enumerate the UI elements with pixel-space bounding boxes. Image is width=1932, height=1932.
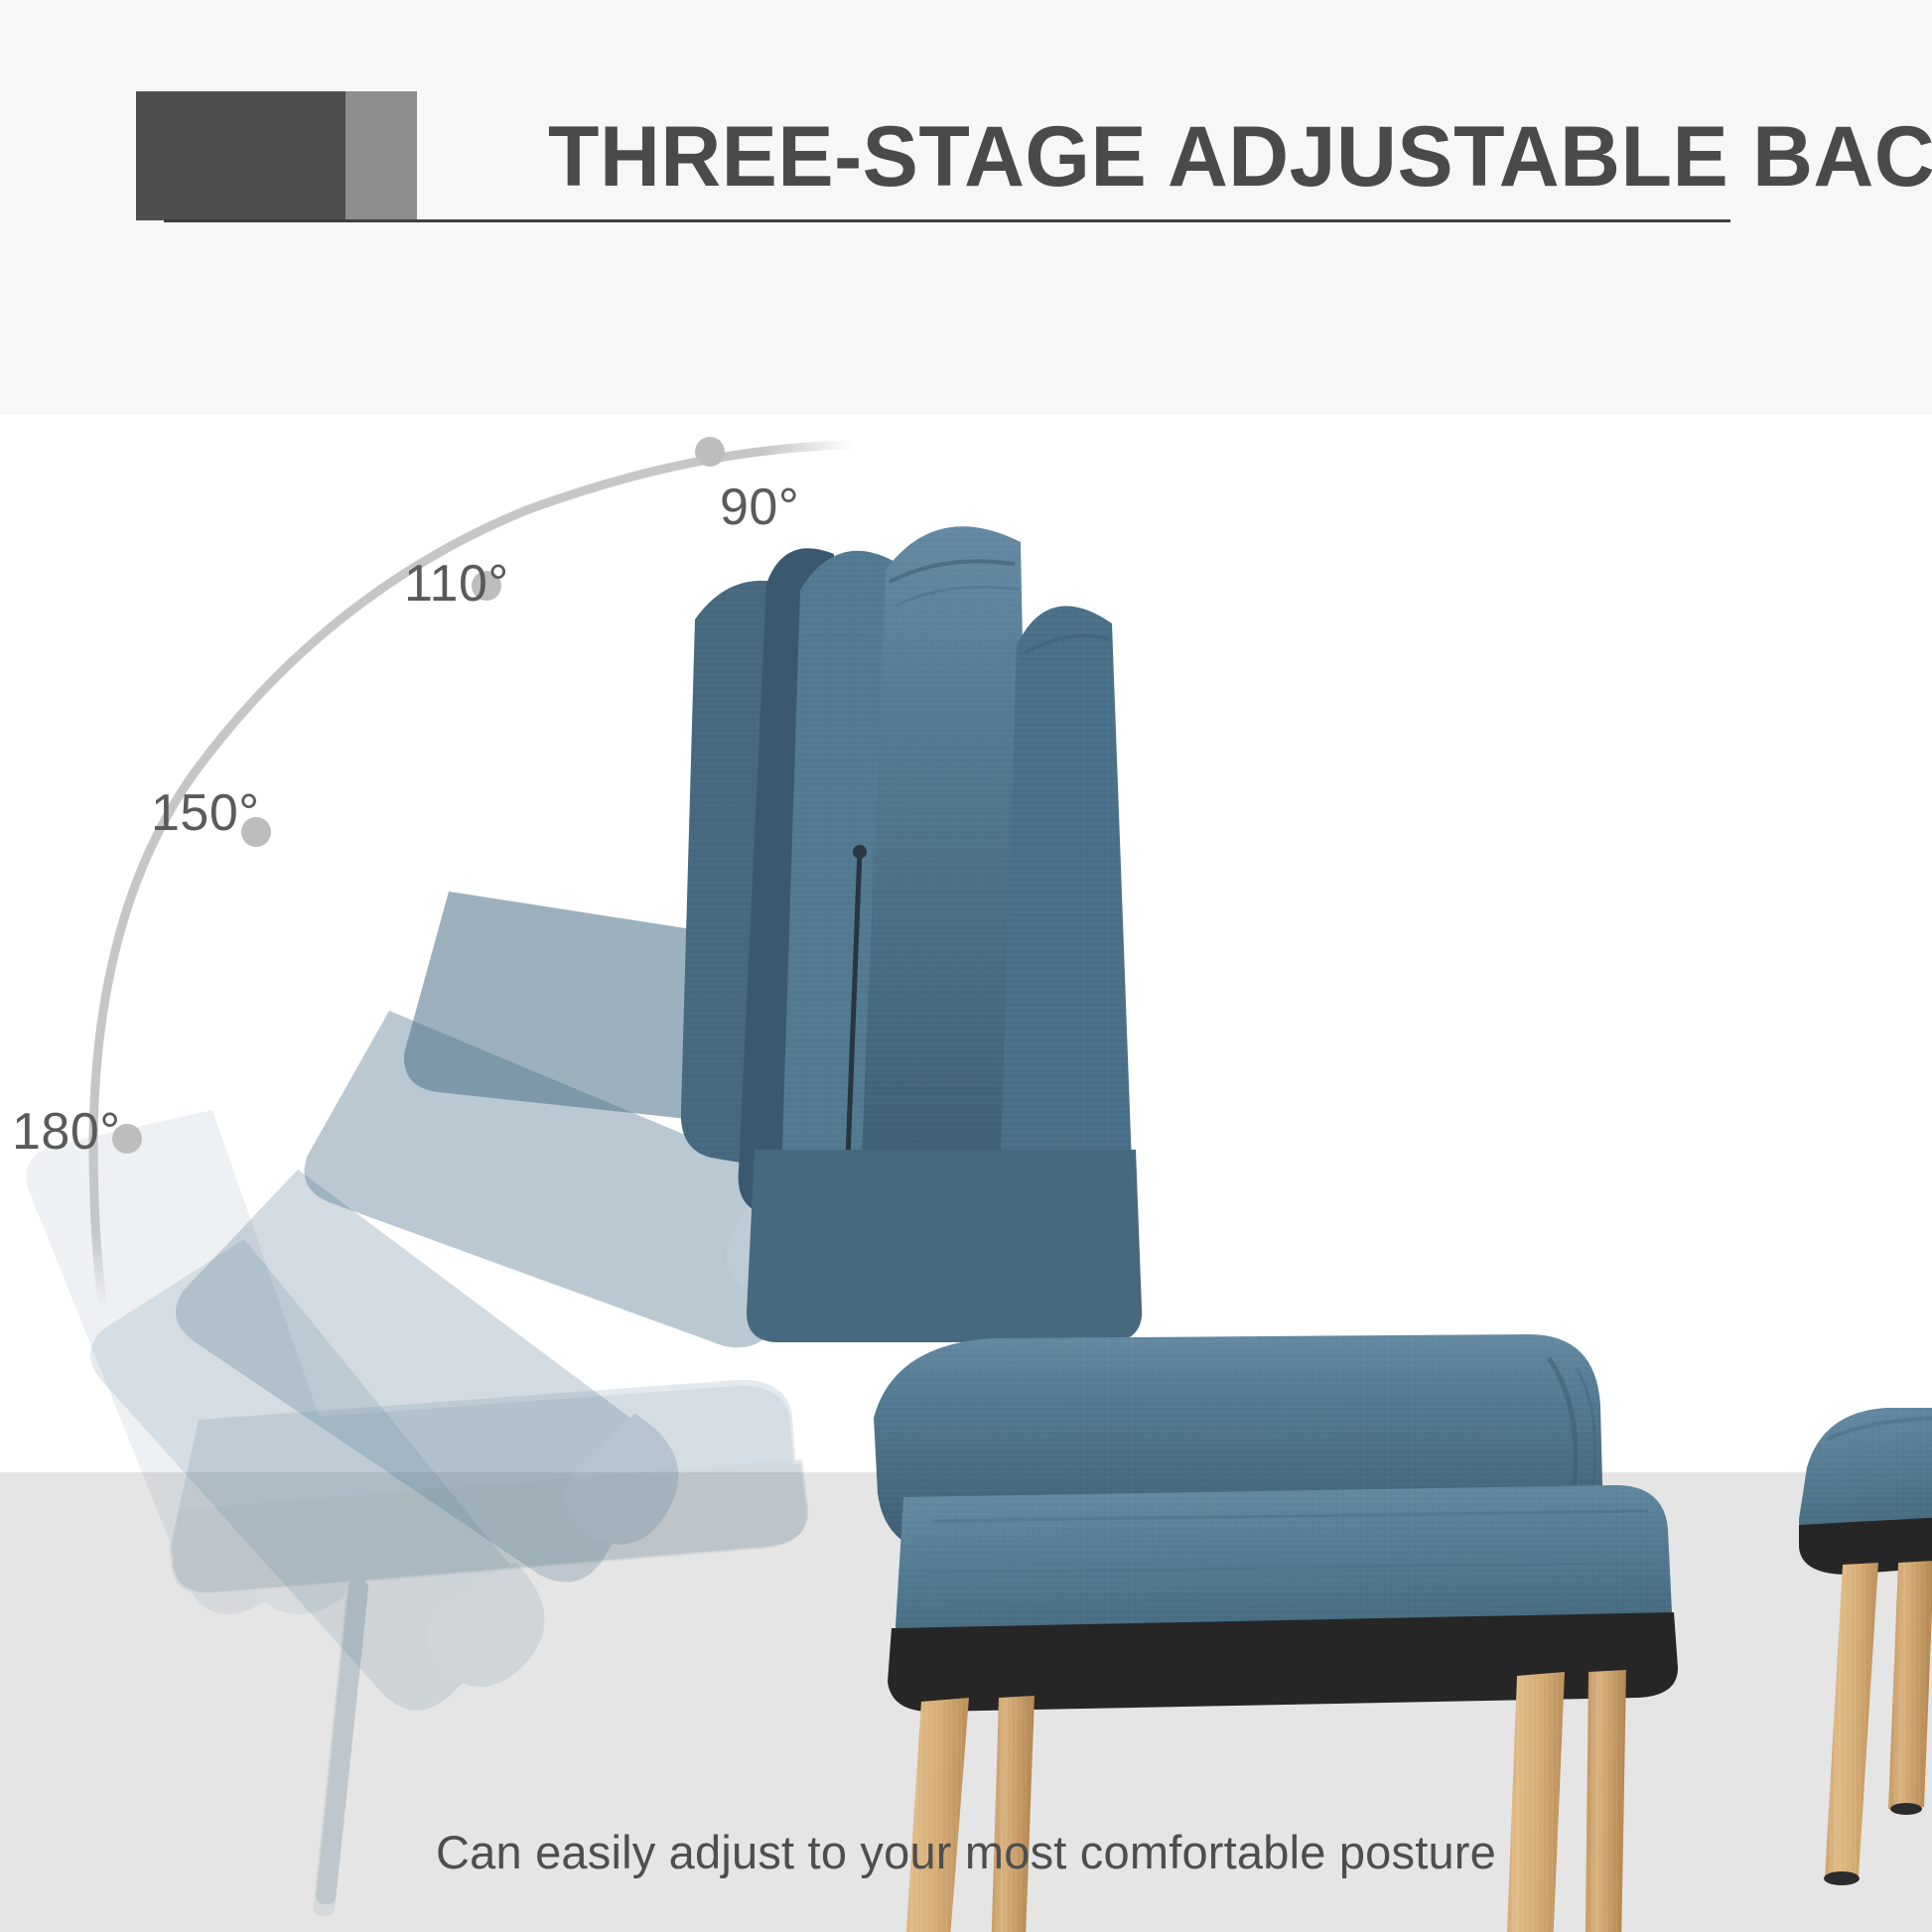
angle-label-180: 180° [12, 1102, 121, 1162]
header-badge-dark-block [136, 91, 345, 220]
angle-label-110: 110° [404, 554, 509, 614]
header-badge-light-block [345, 91, 417, 220]
angle-label-150: 150° [151, 783, 260, 843]
chair-leg-rear-right [1585, 1670, 1626, 1932]
chair-leg-rear-left [988, 1696, 1035, 1932]
footer-caption: Can easily adjust to your most comfortab… [0, 1825, 1932, 1879]
product-photo [0, 415, 1932, 1932]
header-divider-rule [164, 219, 1730, 222]
ottoman [1799, 1408, 1932, 1885]
ottoman-leg-rear [1888, 1561, 1932, 1815]
infographic-canvas: THREE-STAGE ADJUSTABLE BACKREST [0, 0, 1932, 1932]
chair-leg-front-right [1499, 1672, 1565, 1932]
chair-leg-front-left [890, 1698, 969, 1932]
angle-label-90: 90° [720, 478, 799, 537]
page-title: THREE-STAGE ADJUSTABLE BACKREST [548, 95, 1871, 218]
main-chair [681, 526, 1678, 1932]
